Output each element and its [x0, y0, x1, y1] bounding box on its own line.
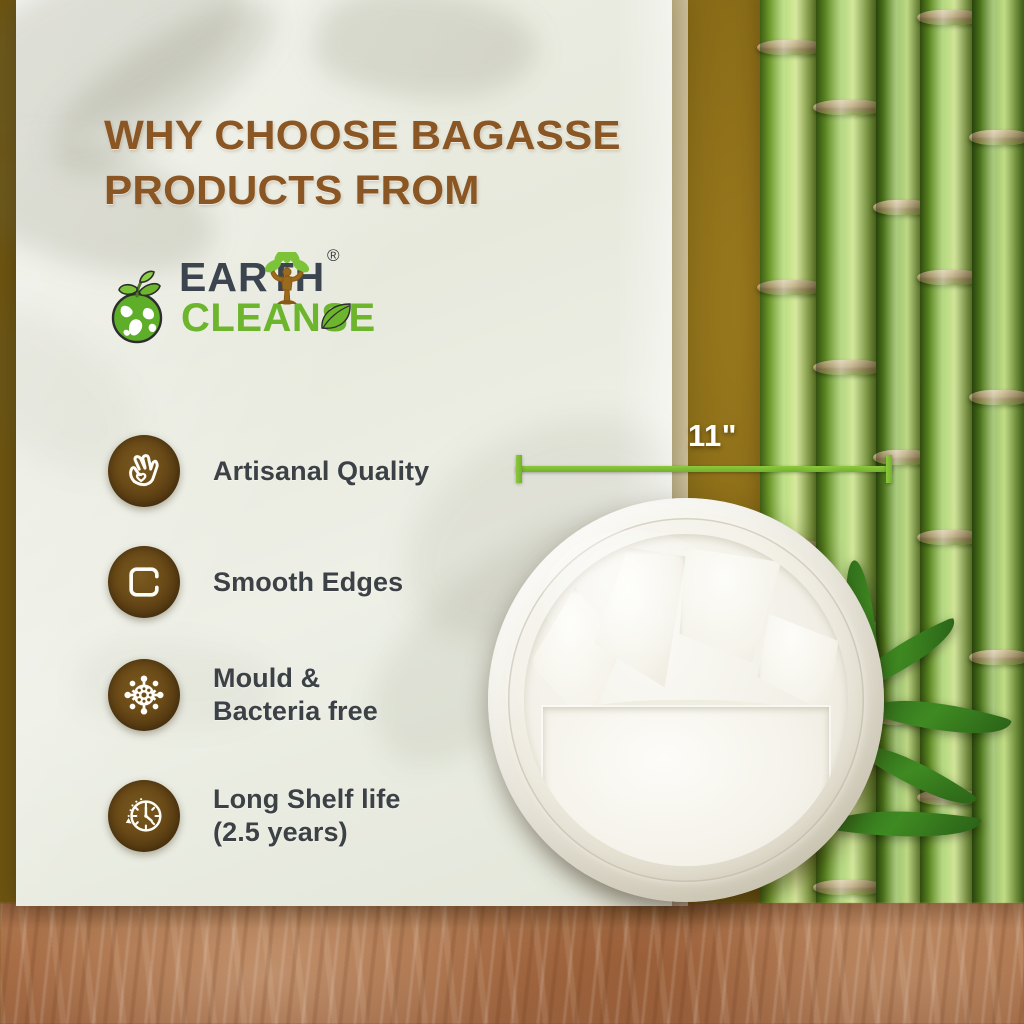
person-tree-icon — [263, 252, 311, 306]
dimension-line — [516, 466, 892, 472]
feature-label: Smooth Edges — [213, 566, 403, 599]
feature-label: Long Shelf life (2.5 years) — [213, 783, 401, 849]
brand-wordmark: EARTH CLEANSE ® — [179, 248, 359, 348]
feature-long-shelf-life: Long Shelf life (2.5 years) — [108, 780, 401, 852]
leaf-shadow — [307, 0, 545, 122]
dimension-cap-right — [886, 455, 892, 483]
plate-compartment — [757, 607, 841, 720]
brand-logo[interactable]: EARTH CLEANSE ® — [103, 248, 353, 348]
page-title: WHY CHOOSE BAGASSE PRODUCTS FROM — [104, 108, 660, 217]
feature-mould-bacteria-free: Mould & Bacteria free — [108, 659, 378, 731]
dimension-label: 11" — [688, 418, 737, 454]
headline-line-2: PRODUCTS FROM — [104, 163, 660, 218]
clock-arrow-icon — [108, 780, 180, 852]
bamboo-cane — [972, 0, 1024, 906]
globe-sprout-icon — [103, 270, 177, 344]
registered-trademark-icon: ® — [327, 246, 340, 266]
dimension-cap-left — [516, 455, 522, 483]
bagasse-plate — [488, 498, 884, 902]
leaf-icon — [319, 302, 353, 332]
feature-label: Artisanal Quality — [213, 455, 429, 488]
poster-canvas: WHY CHOOSE BAGASSE PRODUCTS FROM — [0, 0, 1024, 1024]
hand-heart-icon — [108, 435, 180, 507]
plate-compartment-large — [543, 707, 829, 866]
feature-smooth-edges: Smooth Edges — [108, 546, 403, 618]
feature-label: Mould & Bacteria free — [213, 662, 378, 728]
headline-line-1: WHY CHOOSE BAGASSE — [104, 112, 621, 158]
microbe-icon — [108, 659, 180, 731]
product-image — [480, 492, 900, 932]
feature-artisanal-quality: Artisanal Quality — [108, 435, 429, 507]
plate-inner-surface — [524, 534, 849, 865]
rounded-corners-icon — [108, 546, 180, 618]
